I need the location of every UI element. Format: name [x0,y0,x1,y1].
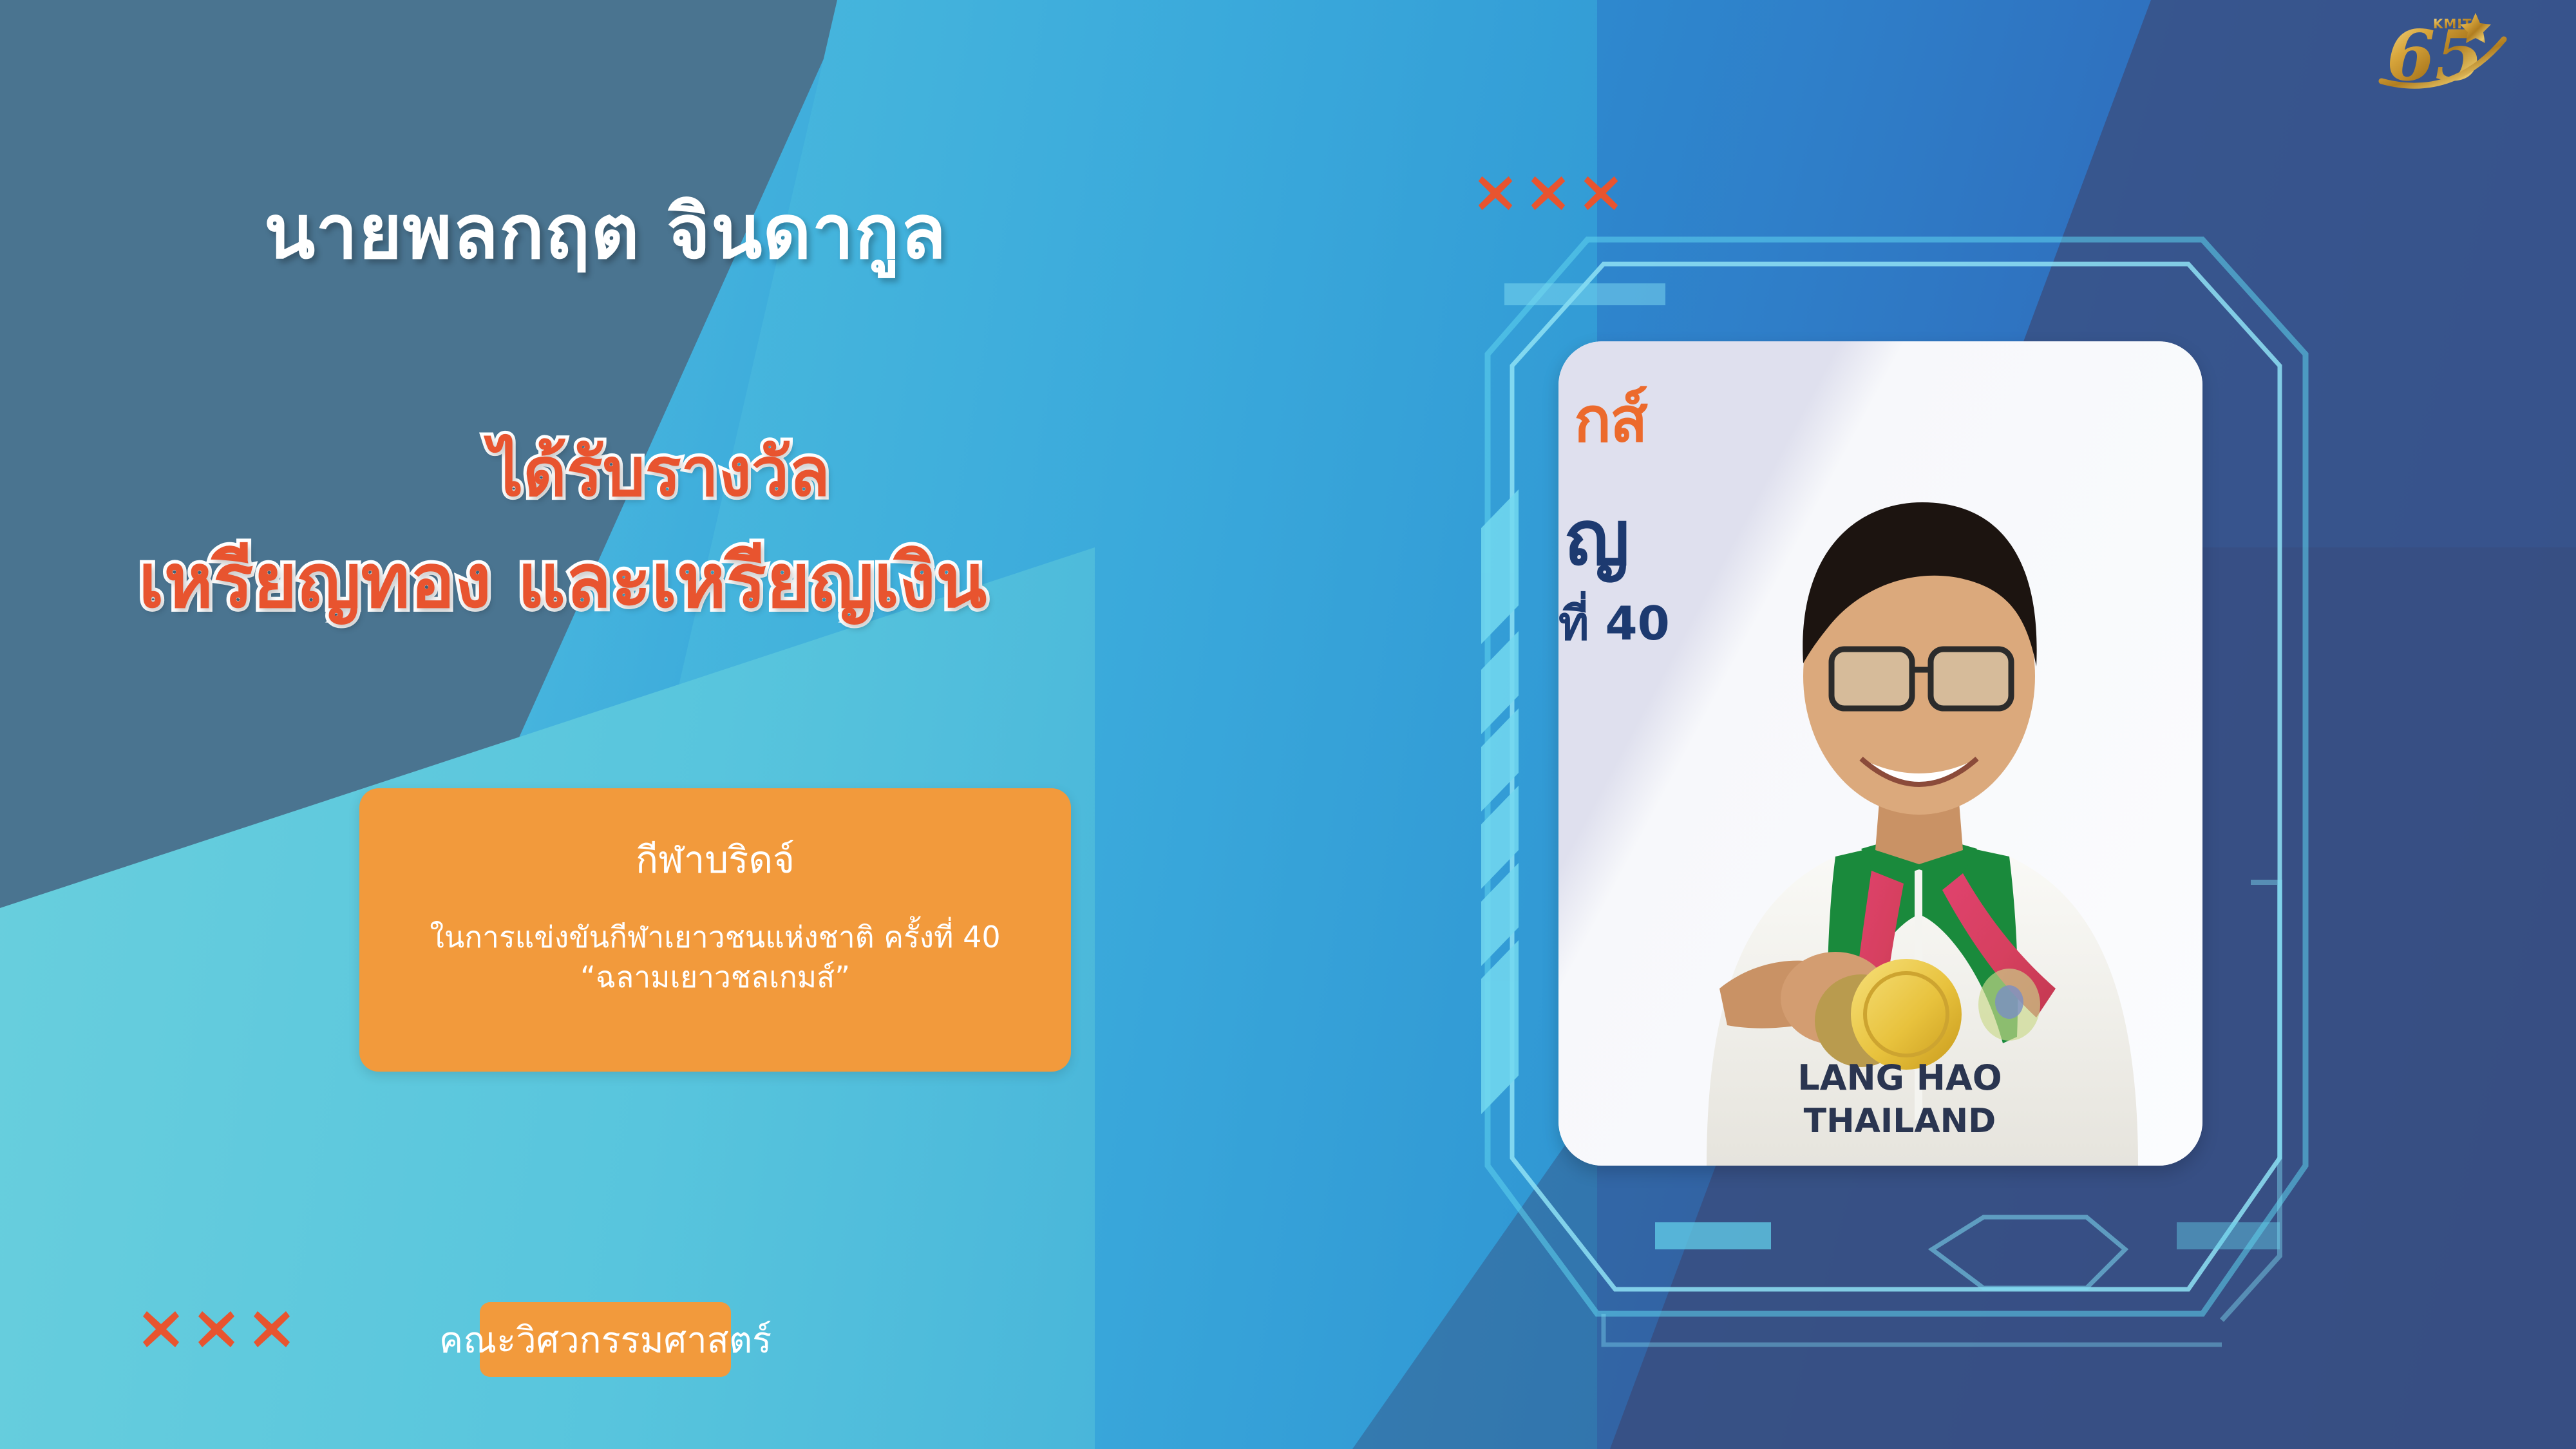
x-icon [1582,174,1620,213]
page-title: นายพลกฤต จินดากูล [264,173,947,291]
award-line-1: ได้รับรางวัล [489,419,830,525]
x-icon [1529,174,1567,213]
x-icon [140,1309,182,1350]
award-line-2: เหรียญทอง และเหรียญเงิน [138,522,987,640]
faculty-badge: คณะวิศวกรรมศาสตร์ [480,1302,731,1377]
frame-stripes-left [1481,489,1519,1114]
x-decor-group-top-frame [1476,174,1620,213]
x-icon [251,1309,292,1350]
kmitl-65-anniversary-logo: 65 KMITL [2375,4,2543,110]
chest-emblem-inner [1995,985,2023,1019]
sport-name: กีฬาบริดจ์ [359,829,1071,889]
x-decor-group-bottom-left [140,1309,292,1350]
award-detail-card: กีฬาบริดจ์ ในการแข่งขันกีฬาเยาวชนแห่งชาต… [359,788,1071,1072]
frame-notch-right [2177,1222,2280,1249]
jacket-text-line-2: THAILAND [1804,1102,1996,1141]
frame-baseline [1604,1314,2222,1345]
event-line-2: “ฉลามเยาวชลเกมส์” [359,957,1071,997]
x-icon [196,1309,237,1350]
frame-right-accent [2222,882,2280,1320]
frame-hexagon-bottom [1932,1217,2125,1288]
faculty-label: คณะวิศวกรรมศาสตร์ [439,1311,772,1368]
jacket-text-line-1: LANG HAO [1797,1057,2002,1098]
frame-tab-top-left [1504,283,1665,305]
frame-notch-left [1655,1222,1771,1249]
medal-gold [1851,959,1962,1070]
event-description: ในการแข่งขันกีฬาเยาวชนแห่งชาติ ครั้งที่ … [359,917,1071,997]
event-line-1: ในการแข่งขันกีฬาเยาวชนแห่งชาติ ครั้งที่ … [359,917,1071,957]
poster-canvas: 65 KMITL นายพลกฤต จินดากูล ได้รับรางวัล … [0,0,2576,1449]
x-icon [1476,174,1515,213]
athlete-figure: LANG HAO THAILAND [1558,341,2202,1166]
athlete-photo: กส์ ญ ที่ 40 [1558,341,2202,1166]
